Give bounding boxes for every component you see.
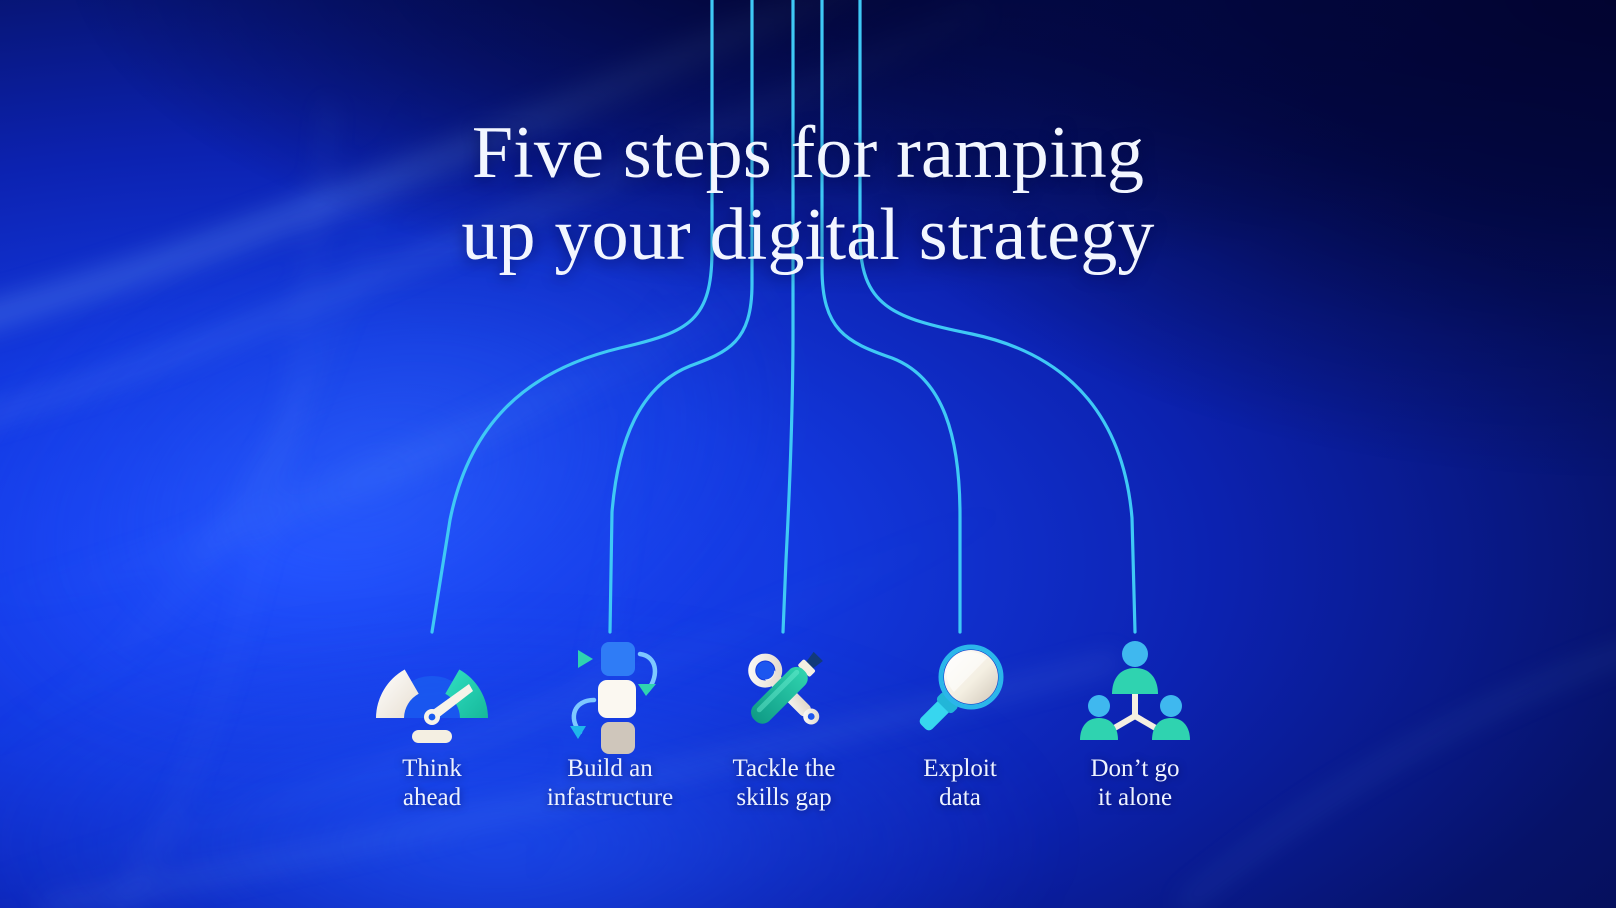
- step-label-line-2: skills gap: [689, 783, 879, 812]
- connector-line-5: [860, 0, 1135, 632]
- speedometer-icon: [337, 640, 527, 740]
- people-network-icon: [1040, 640, 1230, 740]
- connector-line-4: [822, 0, 960, 632]
- step-label-think-ahead: Think ahead: [337, 754, 527, 813]
- step-label-line-2: ahead: [337, 783, 527, 812]
- step-dont-go-it-alone[interactable]: Don’t go it alone: [1040, 640, 1230, 813]
- step-label-line-1: Exploit: [923, 755, 997, 782]
- step-tackle-the-skills-gap[interactable]: Tackle the skills gap: [689, 640, 879, 813]
- magnifying-glass-icon: [865, 640, 1055, 740]
- workflow-blocks-icon: [515, 640, 705, 740]
- step-label-line-1: Think: [402, 755, 462, 782]
- step-build-an-infastructure[interactable]: Build an infastructure: [515, 640, 705, 813]
- connector-line-1: [432, 0, 712, 632]
- step-label-line-1: Tackle the: [732, 755, 835, 782]
- step-label-line-1: Build an: [567, 755, 652, 782]
- step-label-line-1: Don’t go: [1090, 755, 1179, 782]
- step-label-build-an-infastructure: Build an infastructure: [515, 754, 705, 813]
- step-label-dont-go-it-alone: Don’t go it alone: [1040, 754, 1230, 813]
- step-label-line-2: infastructure: [515, 783, 705, 812]
- step-label-exploit-data: Exploit data: [865, 754, 1055, 813]
- step-think-ahead[interactable]: Think ahead: [337, 640, 527, 813]
- step-exploit-data[interactable]: Exploit data: [865, 640, 1055, 813]
- connector-line-3: [783, 0, 793, 632]
- step-label-line-2: it alone: [1040, 783, 1230, 812]
- wrench-screwdriver-icon: [689, 640, 879, 740]
- infographic-canvas: Five steps for ramping up your digital s…: [0, 0, 1616, 908]
- step-label-tackle-the-skills-gap: Tackle the skills gap: [689, 754, 879, 813]
- step-label-line-2: data: [865, 783, 1055, 812]
- connector-line-2: [610, 0, 752, 632]
